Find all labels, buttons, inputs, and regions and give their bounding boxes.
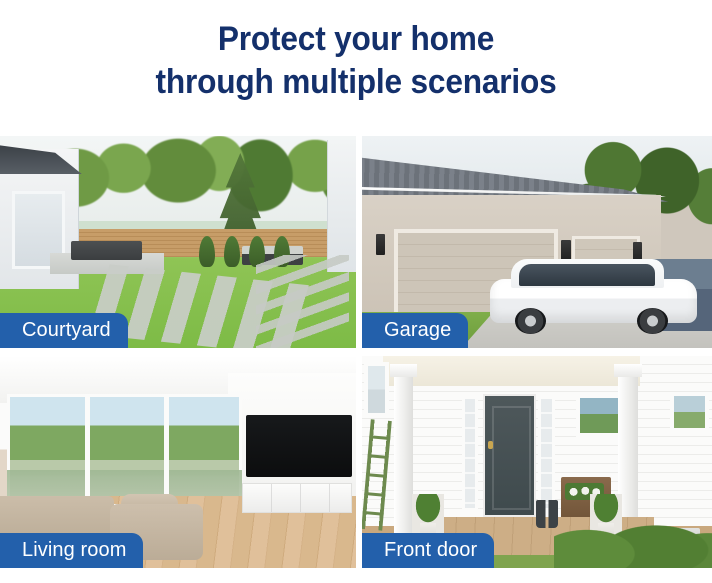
porch-ceiling bbox=[383, 356, 639, 386]
scenario-label-garage: Garage bbox=[362, 313, 468, 348]
scenario-label-living-room: Living room bbox=[0, 533, 143, 568]
window-mullion bbox=[85, 394, 90, 508]
wall-lamp bbox=[376, 234, 385, 255]
scenario-tile-front-door[interactable]: Front door bbox=[362, 356, 712, 568]
front-door[interactable] bbox=[483, 394, 536, 517]
white-suv bbox=[490, 250, 696, 335]
house-right-wall bbox=[327, 140, 356, 271]
gable-window bbox=[670, 392, 709, 432]
scenario-label-courtyard: Courtyard bbox=[0, 313, 128, 348]
wall-mounted-tv bbox=[246, 415, 353, 476]
door-handle[interactable] bbox=[488, 441, 493, 449]
media-console bbox=[242, 483, 352, 513]
page-title: Protect your home through multiple scena… bbox=[25, 0, 687, 104]
scenario-tile-courtyard[interactable]: Courtyard bbox=[0, 136, 356, 348]
page-title-line-1: Protect your home bbox=[25, 18, 687, 61]
stepping-stone-path-secondary bbox=[256, 255, 349, 348]
patio-dining-set bbox=[71, 241, 142, 260]
door-sidelight-left bbox=[462, 396, 478, 510]
promo-page: Protect your home through multiple scena… bbox=[0, 0, 712, 583]
porch-column-left bbox=[394, 364, 413, 538]
scenario-tile-garage[interactable]: Garage bbox=[362, 136, 712, 348]
suv-windows bbox=[519, 264, 655, 286]
page-title-line-2: through multiple scenarios bbox=[25, 61, 687, 104]
suv-rear-wheel bbox=[637, 308, 668, 333]
scenario-tile-living-room[interactable]: Living room bbox=[0, 356, 356, 568]
hedge bbox=[554, 521, 712, 568]
scenario-label-front-door: Front door bbox=[362, 533, 494, 568]
window-mullion bbox=[164, 394, 169, 508]
door-sidelight-right bbox=[538, 396, 554, 510]
porch-window bbox=[576, 394, 622, 436]
side-window bbox=[364, 362, 389, 417]
scenario-grid: Courtyard bbox=[0, 136, 712, 568]
suv-front-wheel bbox=[515, 308, 546, 333]
